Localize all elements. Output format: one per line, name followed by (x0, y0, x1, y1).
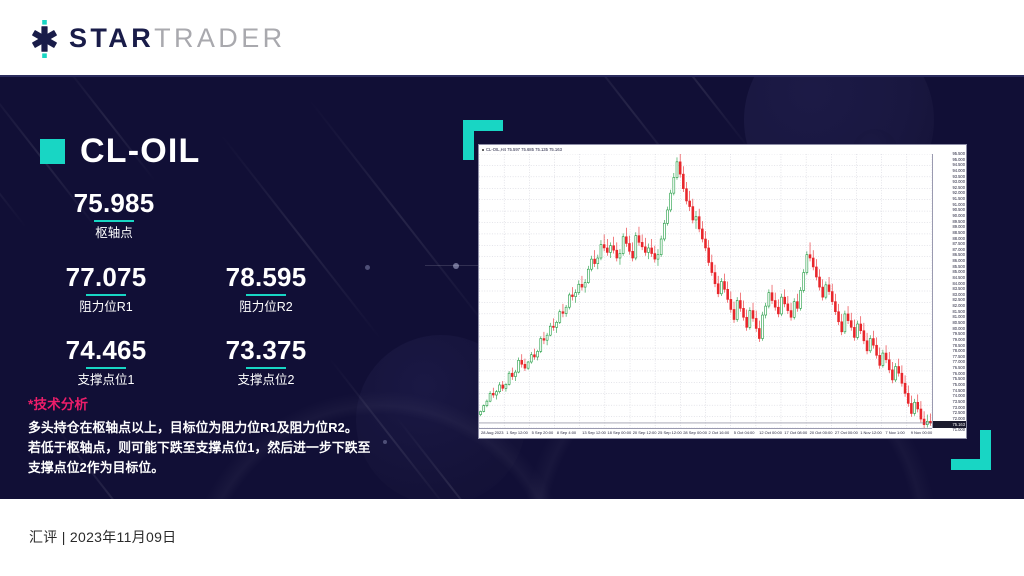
technical-analysis: *技术分析 多头持仓在枢轴点以上，目标位为阻力位R1及阻力位R2。 若低于枢轴点… (28, 393, 428, 479)
price-tick-label: 83.500 (952, 287, 965, 291)
stat-row-pivot: 75.985 枢轴点 (40, 189, 400, 241)
stat-underline (86, 367, 126, 369)
price-chart[interactable]: CL-OIL,H4 75.597 75.685 75.135 75.163 95… (478, 144, 967, 439)
price-tick-label: 91.500 (952, 197, 965, 201)
date-tick-label: 5 Oct 04:00 (734, 431, 755, 435)
price-tick-label: 84.500 (952, 276, 965, 280)
logo-text-trader: TRADER (154, 25, 285, 52)
stat-pivot: 75.985 枢轴点 (48, 189, 180, 241)
decor-streak-1 (0, 85, 27, 228)
stat-r2-label: 阻力位R2 (200, 300, 332, 315)
price-tick-label: 87.500 (952, 242, 965, 246)
price-tick-label: 79.000 (952, 338, 965, 342)
price-tick-label: 94.000 (952, 169, 965, 173)
chart-title-bullet-icon (482, 149, 484, 151)
price-tick-label: 74.000 (952, 394, 965, 398)
date-axis[interactable]: 28 Aug 20231 Sep 12:005 Sep 20:008 Sep 4… (479, 428, 932, 438)
date-tick-label: 20 Sep 12:00 (633, 431, 657, 435)
stat-support-2: 73.375 支撑点位2 (200, 336, 332, 388)
price-tick-label: 81.500 (952, 310, 965, 314)
price-tick-label: 90.500 (952, 208, 965, 212)
candlestick-series (479, 154, 932, 428)
price-tick-label: 79.500 (952, 332, 965, 336)
price-tick-label: 80.000 (952, 327, 965, 331)
chart-plot-area[interactable] (479, 154, 932, 428)
price-tick-label: 93.000 (952, 180, 965, 184)
date-tick-label: 20 Oct 00:00 (810, 431, 833, 435)
price-tick-label: 76.000 (952, 372, 965, 376)
price-tick-label: 92.000 (952, 191, 965, 195)
price-tick-label: 88.000 (952, 237, 965, 241)
price-tick-label: 94.500 (952, 163, 965, 167)
decor-streak-7 (651, 77, 751, 151)
analysis-line-2: 若低于枢轴点，则可能下跌至支撑点位1，然后进一步下跌至 (28, 438, 428, 458)
price-tick-label: 82.500 (952, 298, 965, 302)
price-tick-label: 81.000 (952, 315, 965, 319)
price-tick-label: 73.500 (952, 400, 965, 404)
stat-r2-value: 78.595 (200, 263, 332, 291)
date-tick-label: 13 Sep 12:00 (582, 431, 606, 435)
stat-s2-value: 73.375 (200, 336, 332, 364)
price-tick-label: 77.500 (952, 355, 965, 359)
poster-page: STAR TRADER (0, 0, 1024, 576)
stat-pivot-label: 枢轴点 (48, 226, 180, 241)
asterisk-star-icon (28, 20, 62, 58)
stat-r1-value: 77.075 (40, 263, 172, 291)
pivot-stats: 75.985 枢轴点 77.075 阻力位R1 78.595 阻力位R2 (40, 189, 400, 409)
analysis-line-3: 支撑点位2作为目标位。 (28, 458, 428, 478)
stat-s1-label: 支撑点位1 (40, 373, 172, 388)
date-tick-label: 1 Nov 12:00 (860, 431, 882, 435)
logo-text-star: STAR (69, 25, 154, 52)
stat-underline (246, 294, 286, 296)
date-tick-label: 28 Sep 00:00 (683, 431, 707, 435)
chart-title: CL-OIL,H4 75.597 75.685 75.135 75.163 (479, 145, 966, 154)
date-tick-label: 8 Sep 4:00 (557, 431, 576, 435)
price-tick-label: 77.000 (952, 360, 965, 364)
brand-logo[interactable]: STAR TRADER (28, 20, 286, 58)
stat-s2-label: 支撑点位2 (200, 373, 332, 388)
price-tick-label: 72.500 (952, 411, 965, 415)
date-tick-label: 9 Nov 00:00 (911, 431, 933, 435)
price-tick-label: 89.500 (952, 220, 965, 224)
price-tick-label: 95.000 (952, 158, 965, 162)
date-tick-label: 28 Aug 2023 (481, 431, 503, 435)
price-tick-label: 82.000 (952, 304, 965, 308)
price-tick-label: 86.000 (952, 259, 965, 263)
chart-title-text: CL-OIL,H4 75.597 75.685 75.135 75.163 (486, 147, 562, 152)
stat-pivot-value: 75.985 (48, 189, 180, 217)
date-tick-label: 18 Sep 00:00 (607, 431, 631, 435)
price-tick-label: 83.000 (952, 293, 965, 297)
price-axis[interactable]: 95.50095.00094.50094.00093.50093.00092.5… (932, 154, 966, 428)
current-price-label: 75.163 (933, 421, 966, 428)
price-tick-label: 78.000 (952, 349, 965, 353)
price-tick-label: 80.500 (952, 321, 965, 325)
price-tick-label: 84.000 (952, 282, 965, 286)
price-tick-label: 74.500 (952, 389, 965, 393)
price-tick-label: 76.500 (952, 366, 965, 370)
stat-resistance-2: 78.595 阻力位R2 (200, 263, 332, 315)
stat-underline (246, 367, 286, 369)
price-tick-label: 93.500 (952, 175, 965, 179)
stat-row-resistance: 77.075 阻力位R1 78.595 阻力位R2 (40, 263, 400, 315)
stat-support-1: 74.465 支撑点位1 (40, 336, 172, 388)
stat-resistance-1: 77.075 阻力位R1 (40, 263, 172, 315)
accent-square-icon (40, 139, 65, 164)
hero-panel: CL-OIL 75.985 枢轴点 77.075 阻力位R1 78.595 (0, 77, 1024, 499)
price-tick-label: 75.500 (952, 377, 965, 381)
price-tick-label: 90.000 (952, 214, 965, 218)
price-tick-label: 85.500 (952, 265, 965, 269)
price-tick-label: 78.500 (952, 344, 965, 348)
stat-underline (86, 294, 126, 296)
date-tick-label: 17 Oct 08:00 (784, 431, 807, 435)
price-tick-label: 73.000 (952, 406, 965, 410)
footer-date: 汇评 | 2023年11月09日 (29, 527, 176, 547)
symbol-title-row: CL-OIL (40, 134, 201, 168)
page-title: CL-OIL (80, 134, 201, 168)
date-tick-label: 2 Oct 16:00 (709, 431, 730, 435)
price-tick-label: 75.000 (952, 383, 965, 387)
price-tick-label: 95.500 (952, 152, 965, 156)
stat-row-support: 74.465 支撑点位1 73.375 支撑点位2 (40, 336, 400, 388)
price-tick-label: 89.000 (952, 225, 965, 229)
date-tick-label: 7 Nov 1:00 (885, 431, 904, 435)
price-tick-label: 71.000 (952, 428, 965, 432)
decor-dot-4 (453, 263, 459, 269)
analysis-line-1: 多头持仓在枢轴点以上，目标位为阻力位R1及阻力位R2。 (28, 418, 428, 438)
price-tick-label: 88.500 (952, 231, 965, 235)
price-tick-label: 87.000 (952, 248, 965, 252)
analysis-title: *技术分析 (28, 393, 428, 413)
price-tick-label: 85.000 (952, 270, 965, 274)
date-tick-label: 5 Sep 20:00 (532, 431, 554, 435)
date-tick-label: 1 Sep 12:00 (506, 431, 528, 435)
price-tick-label: 86.500 (952, 253, 965, 257)
date-tick-label: 12 Oct 00:00 (759, 431, 782, 435)
price-tick-label: 72.000 (952, 417, 965, 421)
date-tick-label: 27 Oct 00:00 (835, 431, 858, 435)
date-tick-label: 25 Sep 12:00 (658, 431, 682, 435)
page-footer: 汇评 | 2023年11月09日 (0, 499, 1024, 576)
page-header: STAR TRADER (0, 0, 1024, 77)
stat-s1-value: 74.465 (40, 336, 172, 364)
stat-r1-label: 阻力位R1 (40, 300, 172, 315)
price-tick-label: 92.500 (952, 186, 965, 190)
price-tick-label: 91.000 (952, 203, 965, 207)
stat-underline (94, 220, 134, 222)
